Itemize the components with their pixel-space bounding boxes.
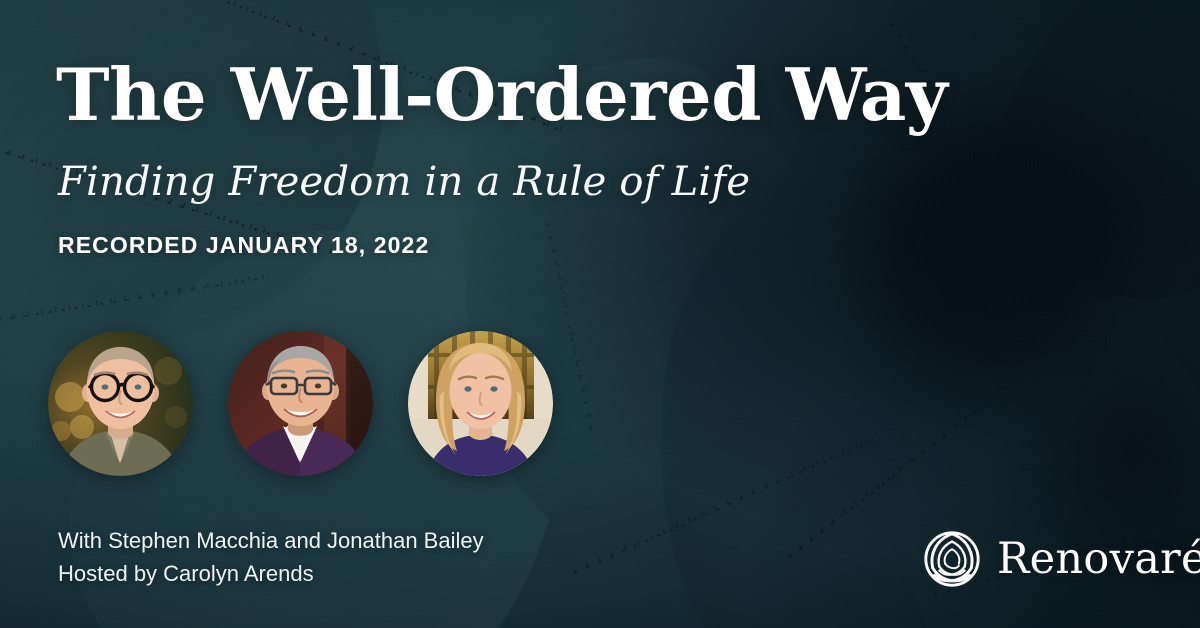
promo-poster: The Well-Ordered Way Finding Freedom in …: [0, 0, 1200, 628]
speaker-portrait-group: [48, 331, 553, 476]
brand-wordmark: Renovaré: [997, 538, 1200, 581]
poster-content: The Well-Ordered Way Finding Freedom in …: [0, 0, 1200, 628]
brand-logo: Renovaré: [921, 528, 1200, 590]
credits-block: With Stephen Macchia and Jonathan Bailey…: [58, 524, 484, 591]
page-title: The Well-Ordered Way: [56, 58, 947, 131]
recorded-date-label: RECORDED JANUARY 18, 2022: [58, 232, 429, 259]
avatar: [408, 331, 553, 476]
avatar: [48, 331, 193, 476]
page-subtitle: Finding Freedom in a Rule of Life: [58, 160, 750, 204]
renovare-woven-circle-icon: [921, 528, 983, 590]
credits-hosted-line: Hosted by Carolyn Arends: [58, 557, 484, 590]
credits-with-line: With Stephen Macchia and Jonathan Bailey: [58, 524, 484, 557]
avatar: [228, 331, 373, 476]
